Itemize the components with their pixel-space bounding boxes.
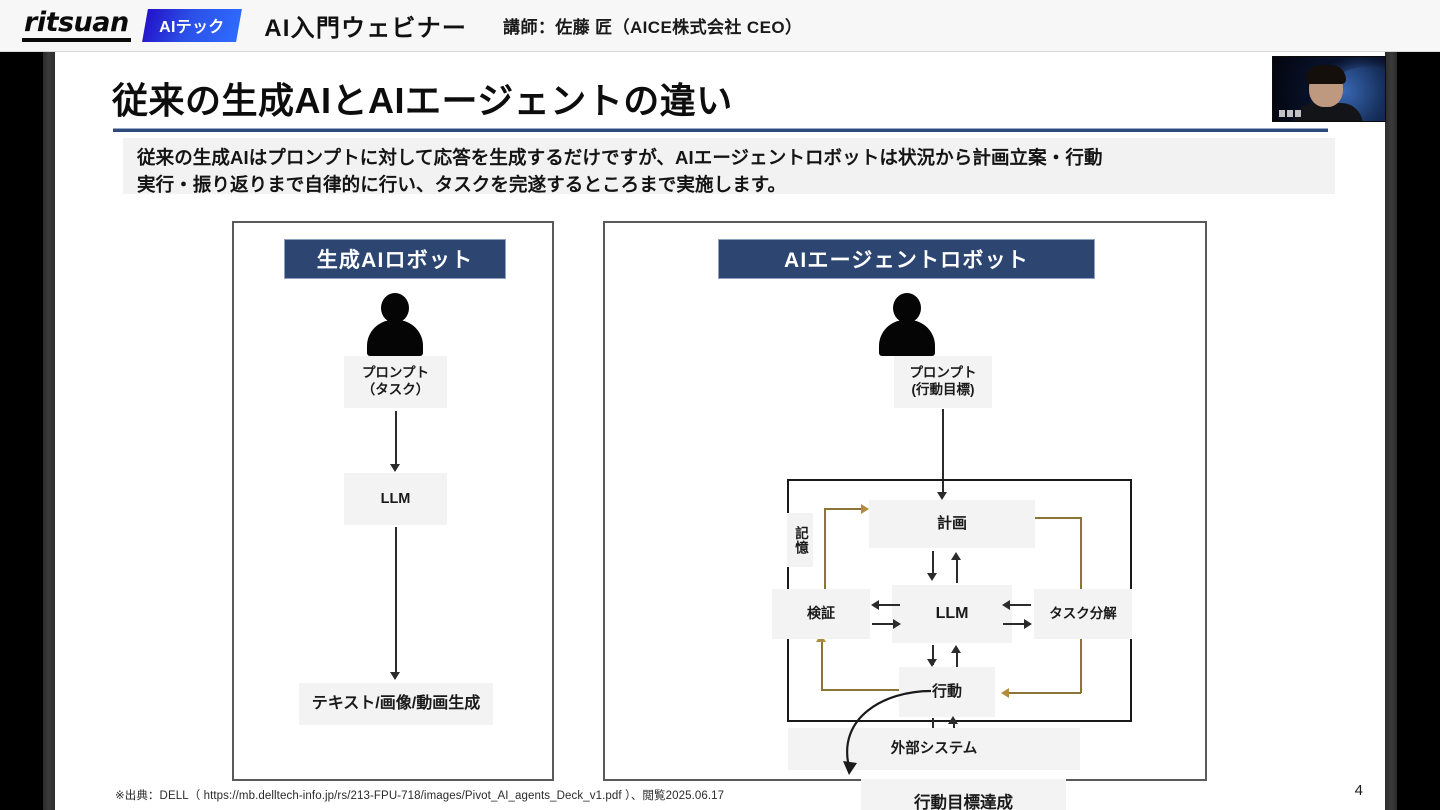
arrow-llm-to-decompose <box>1024 619 1032 629</box>
lead-paragraph-text: 従来の生成AIはプロンプトに対して応答を生成するだけですが、AIエージェントロボ… <box>137 145 1321 199</box>
person-head-shape <box>893 293 921 323</box>
person-body-shape <box>367 320 423 356</box>
arrow-llm-to-output <box>390 672 400 680</box>
presenter-video-thumbnail[interactable] <box>1272 56 1386 122</box>
arrow-llm-to-plan <box>951 552 961 560</box>
connector-decompose-to-action-horizontal <box>1009 692 1081 694</box>
screen-root: ritsuan AIテック AI入門ウェビナー 講師：佐藤 匠（AICE株式会社… <box>0 0 1440 810</box>
person-head-shape <box>381 293 409 323</box>
node-task-decomposition: タスク分解 <box>1034 589 1132 639</box>
connector-llm-to-decompose <box>1003 623 1025 625</box>
node-llm: LLM <box>892 585 1012 643</box>
arrow-decompose-to-llm <box>1002 600 1010 610</box>
arrow-verify-to-llm <box>893 619 901 629</box>
arrow-external-to-action <box>948 716 958 724</box>
curve-arrowhead <box>843 761 857 775</box>
webinar-header-bar: ritsuan AIテック AI入門ウェビナー 講師：佐藤 匠（AICE株式会社… <box>0 0 1440 52</box>
right-rail-edge <box>1385 52 1397 810</box>
connector-verify-to-plan-horizontal <box>824 508 862 510</box>
slide-title: 従来の生成AIとAIエージェントの違い <box>112 72 733 124</box>
lead-paragraph-band: 従来の生成AIはプロンプトに対して応答を生成するだけですが、AIエージェントロボ… <box>123 138 1335 194</box>
page-number: 4 <box>1355 782 1363 799</box>
connector-llm-to-plan-up <box>956 557 958 583</box>
connector-decompose-to-action-vertical <box>1080 639 1082 693</box>
node-text-image-video-output: テキスト/画像/動画生成 <box>299 683 493 725</box>
node-goal-achieved: 行動目標達成 <box>861 779 1066 810</box>
ritsuan-logo: ritsuan <box>22 9 131 42</box>
node-prompt-goal: プロンプト (行動目標) <box>894 356 992 408</box>
connector-plan-to-decompose-horizontal <box>1035 517 1081 519</box>
node-memory: 記憶 <box>787 513 813 567</box>
left-rail-edge <box>43 52 55 810</box>
arrow-llm-to-action <box>927 659 937 667</box>
ai-tech-badge: AIテック <box>142 9 241 42</box>
left-black-rail <box>0 52 43 810</box>
connector-llm-to-verify <box>878 604 900 606</box>
connector-plan-to-decompose-vertical <box>1080 517 1082 589</box>
lecturer-name: 講師：佐藤 匠（AICE株式会社 CEO） <box>503 13 802 38</box>
node-llm: LLM <box>344 473 447 525</box>
person-silhouette-icon <box>875 293 939 355</box>
source-citation: ※出典：DELL（ https://mb.delltech-info.jp/rs… <box>115 787 724 803</box>
node-prompt-task: プロンプト （タスク） <box>344 356 447 408</box>
panel-generative-ai-robot: 生成AIロボット プロンプト （タスク） LLM テキスト/画像/動画生成 <box>232 221 554 781</box>
panel-left-header: 生成AIロボット <box>284 239 506 279</box>
node-verify: 検証 <box>772 589 870 639</box>
ai-tech-badge-label: AIテック <box>159 13 225 37</box>
panel-right-header: AIエージェントロボット <box>718 239 1095 279</box>
arrow-action-to-llm <box>951 645 961 653</box>
person-silhouette-icon <box>363 293 427 355</box>
connector-decompose-to-llm <box>1009 604 1031 606</box>
arrow-into-action <box>1001 688 1009 698</box>
arrow-plan-to-llm <box>927 573 937 581</box>
video-overlay-tint <box>1273 57 1386 122</box>
arrow-prompt-to-llm <box>390 464 400 472</box>
connector-action-to-goal-curve <box>823 683 933 793</box>
arrow-into-plan <box>861 504 869 514</box>
right-black-rail <box>1397 52 1440 810</box>
arrow-llm-to-verify <box>871 600 879 610</box>
curve-path <box>847 691 931 767</box>
connector-verify-to-llm <box>872 623 894 625</box>
person-body-shape <box>879 320 935 356</box>
webinar-title: AI入門ウェビナー <box>264 8 467 43</box>
title-underline-rule <box>113 128 1328 132</box>
slide-canvas: 従来の生成AIとAIエージェントの違い 従来の生成AIはプロンプトに対して応答を… <box>55 52 1385 810</box>
node-plan: 計画 <box>869 500 1035 548</box>
connector-verify-to-plan-vertical <box>824 508 826 590</box>
connector-llm-to-output <box>395 527 397 673</box>
panel-ai-agent-robot: AIエージェントロボット プロンプト (行動目標) 記憶 <box>603 221 1207 781</box>
connector-prompt-to-llm <box>395 411 397 465</box>
